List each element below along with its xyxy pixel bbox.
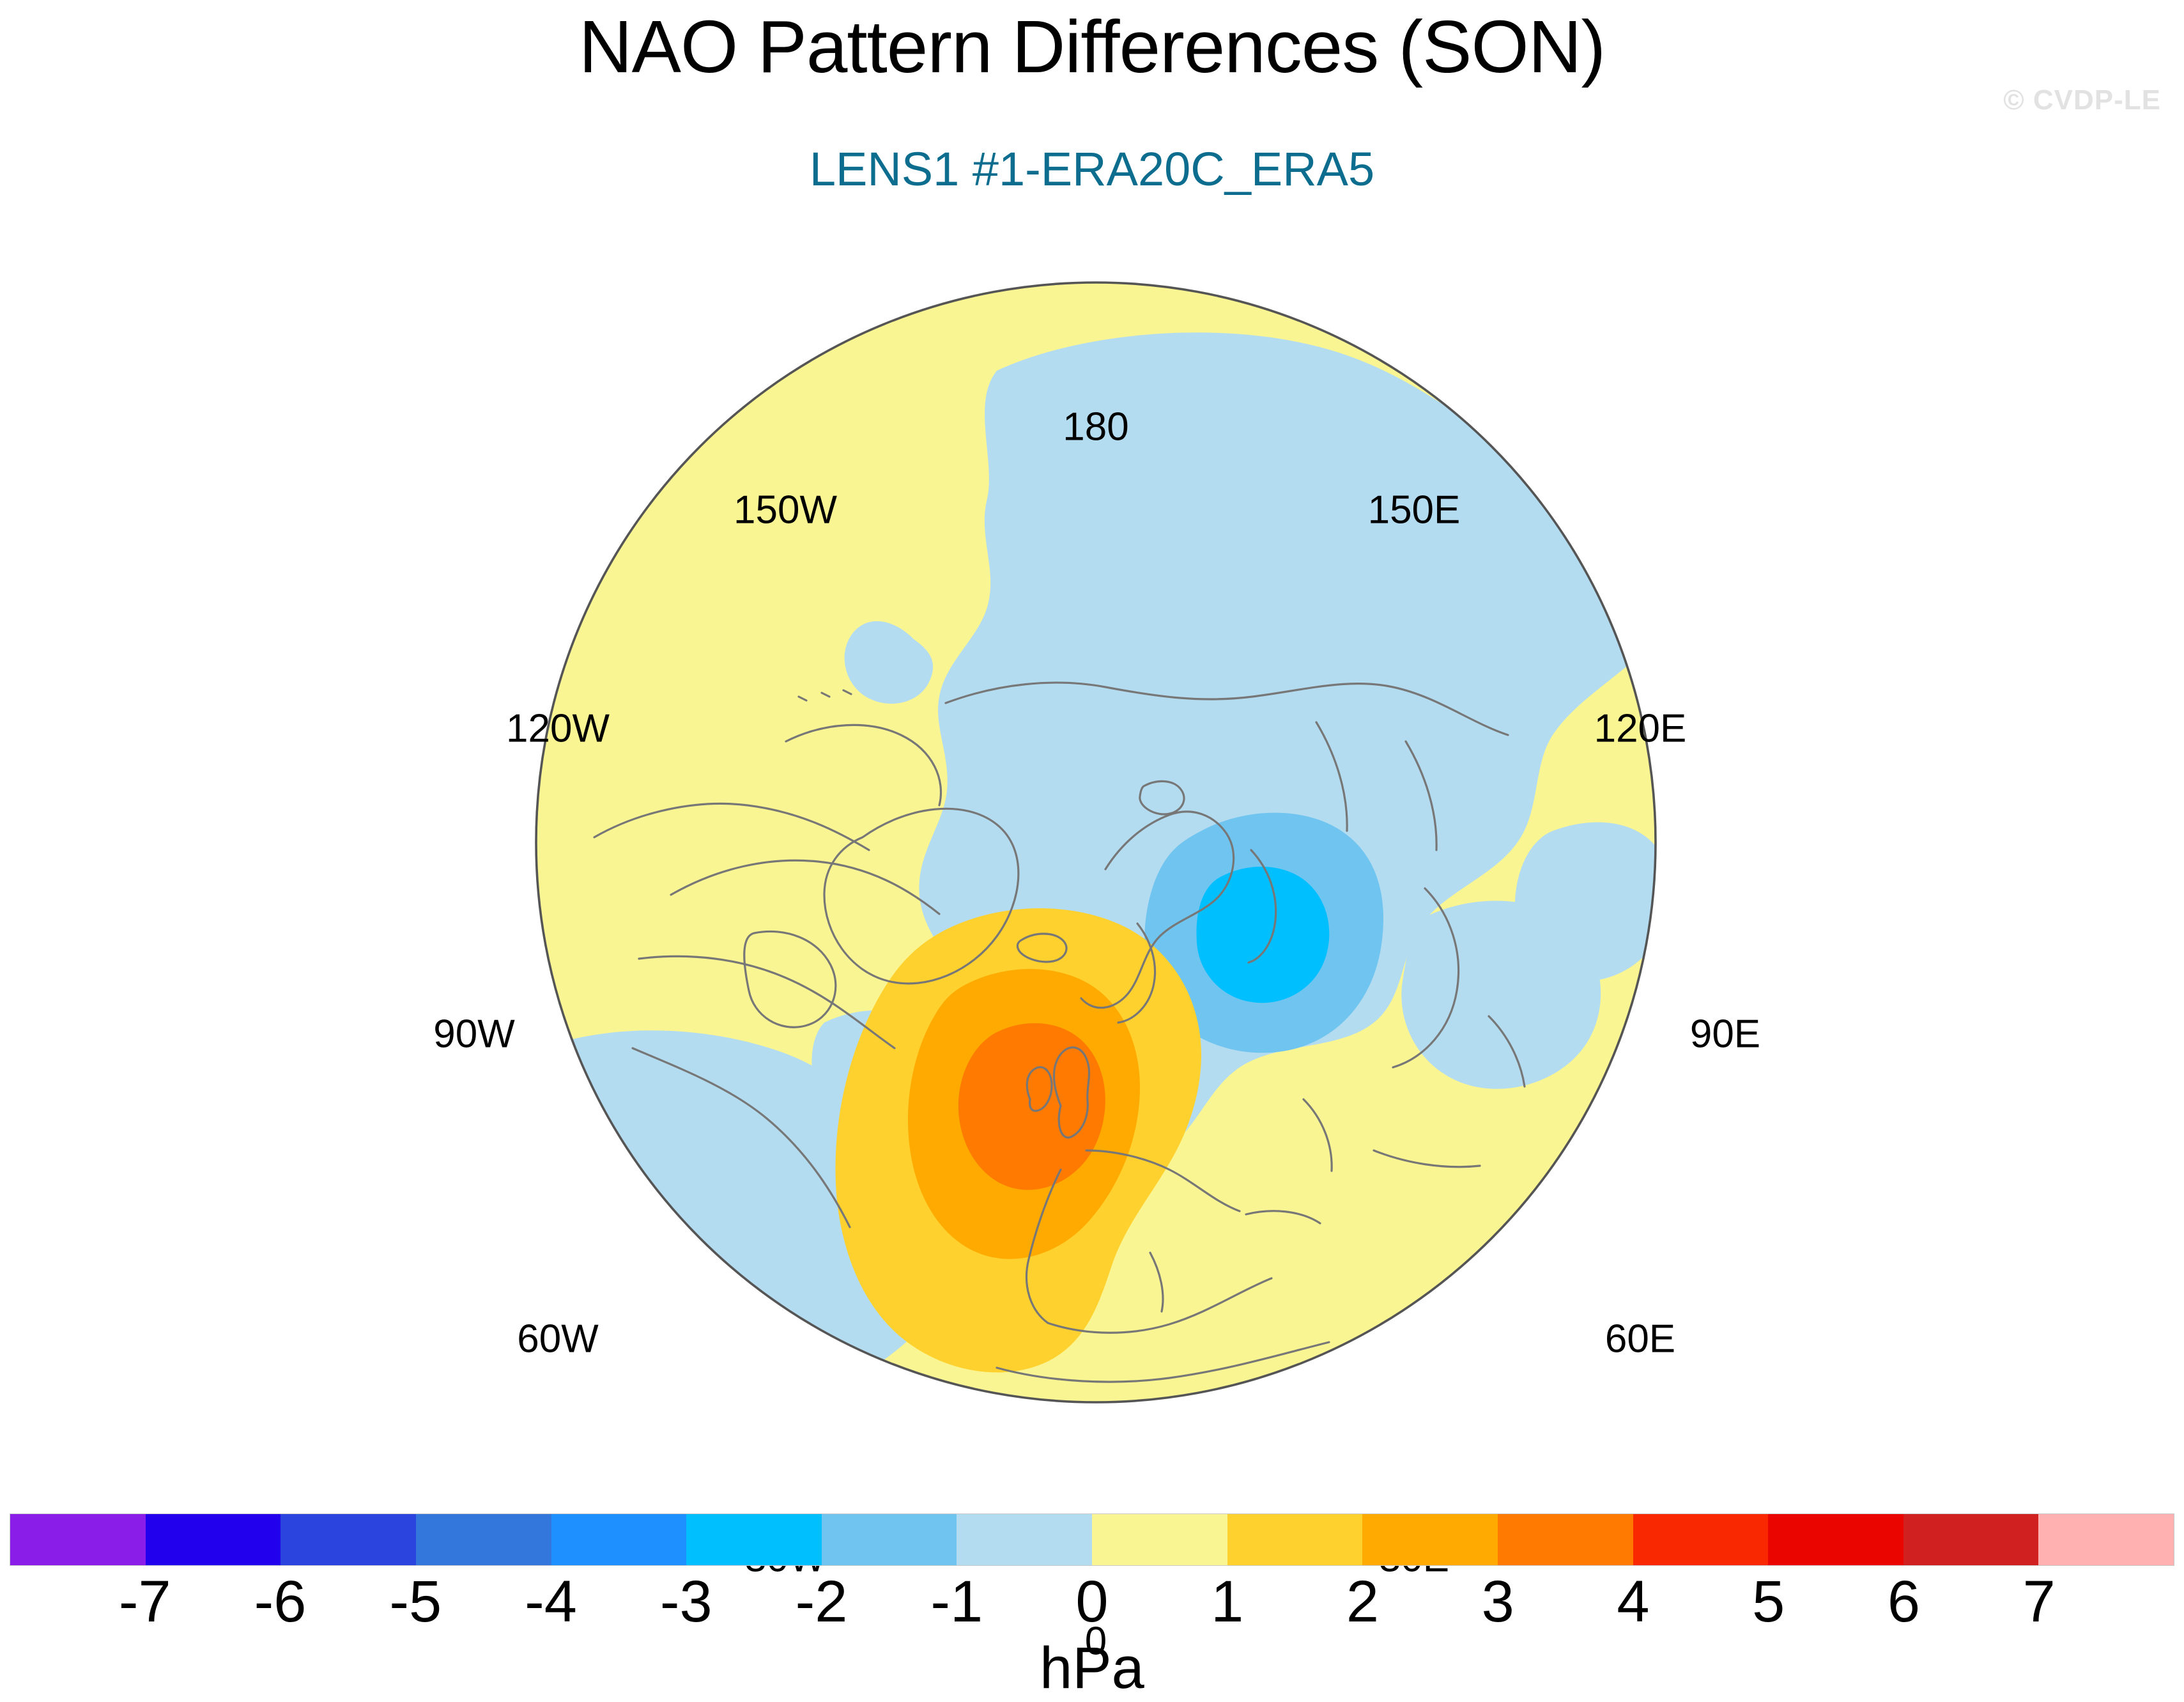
colorbar-tick-labels: -7-6-5-4-3-2-101234567: [10, 1568, 2174, 1630]
lon-label-150E: 150E: [1368, 488, 1461, 533]
colorbar-band-5: [686, 1514, 822, 1565]
colorbar-band-8: [1092, 1514, 1227, 1565]
colorbar-band-9: [1227, 1514, 1363, 1565]
colorbar-band-7: [957, 1514, 1092, 1565]
colorbar-band-14: [1903, 1514, 2039, 1565]
colorbar-band-6: [822, 1514, 957, 1565]
colorbar-tick--5: -5: [389, 1568, 442, 1636]
colorbar-tick--2: -2: [796, 1568, 848, 1636]
colorbar-band-3: [416, 1514, 551, 1565]
polar-stereographic-map: 180150W150E120W120E90W90E60W60E30W30E0: [0, 192, 2184, 1483]
colorbar-tick--6: -6: [254, 1568, 307, 1636]
colorbar-tick-2: 2: [1346, 1568, 1379, 1636]
colorbar-tick--3: -3: [660, 1568, 712, 1636]
lon-label-60W: 60W: [517, 1317, 598, 1362]
colorbar-tick-6: 6: [1888, 1568, 1920, 1636]
lon-label-120E: 120E: [1594, 706, 1687, 752]
lon-label-90W: 90W: [433, 1012, 514, 1057]
colorbar-tick-5: 5: [1752, 1568, 1785, 1636]
colorbar-band-4: [551, 1514, 687, 1565]
colorbar-band-13: [1768, 1514, 1903, 1565]
colorbar-bands: [10, 1513, 2174, 1566]
colorbar-band-11: [1498, 1514, 1633, 1565]
colorbar-band-0: [10, 1514, 146, 1565]
contour-band-neg1to0-east: [1515, 823, 1671, 982]
lon-label-90E: 90E: [1690, 1012, 1760, 1057]
lon-label-180: 180: [1063, 405, 1128, 450]
colorbar-tick-3: 3: [1482, 1568, 1514, 1636]
contour-band-neg3to2-barents-core: [1196, 867, 1329, 1003]
colorbar-tick-1: 1: [1211, 1568, 1243, 1636]
page-title: NAO Pattern Differences (SON): [0, 4, 2184, 89]
lon-label-120W: 120W: [506, 706, 610, 752]
colorbar-tick-4: 4: [1617, 1568, 1649, 1636]
copyright-watermark: © CVDP-LE: [2003, 84, 2161, 116]
colorbar-tick-7: 7: [2023, 1568, 2056, 1636]
colorbar-tick--1: -1: [930, 1568, 983, 1636]
colorbar-band-15: [2038, 1514, 2174, 1565]
colorbar-tick-0: 0: [1075, 1568, 1108, 1636]
colorbar-tick--7: -7: [119, 1568, 171, 1636]
colorbar-unit-label: hPa: [0, 1635, 2184, 1702]
colorbar-band-1: [146, 1514, 281, 1565]
colorbar-band-12: [1633, 1514, 1769, 1565]
colorbar-tick--4: -4: [525, 1568, 577, 1636]
contour-fill-group: [520, 282, 1697, 1411]
lon-label-60E: 60E: [1605, 1317, 1675, 1362]
colorbar-band-10: [1362, 1514, 1498, 1565]
colorbar: -7-6-5-4-3-2-101234567 hPa: [0, 1510, 2184, 1701]
lon-label-150W: 150W: [734, 488, 837, 533]
chart-subtitle: LENS1 #1-ERA20C_ERA5: [0, 142, 2184, 196]
map-canvas: [0, 192, 2184, 1483]
colorbar-band-2: [281, 1514, 416, 1565]
